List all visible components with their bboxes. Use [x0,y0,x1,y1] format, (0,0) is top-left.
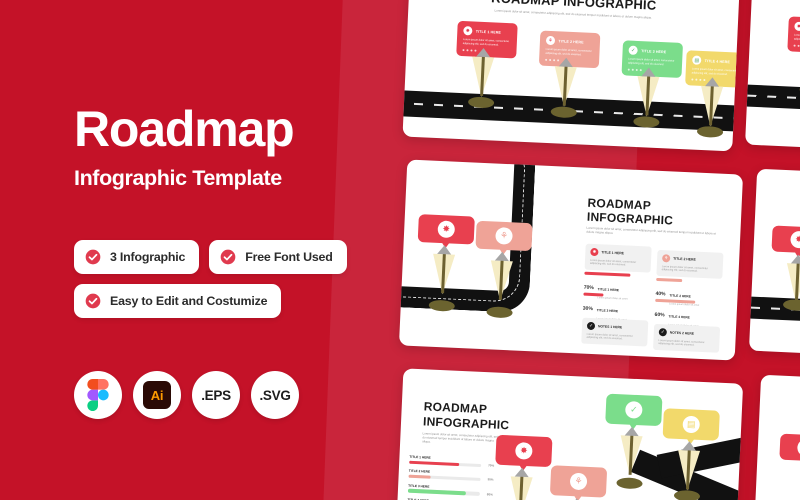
check-circle-icon [220,249,236,265]
feature-badge-label: Easy to Edit and Costumize [110,294,267,308]
street-lamp [674,441,703,498]
progress-row: TITLE 1 HERE 70% [409,455,481,467]
progress-row: TITLE 3 HERE 80% [408,484,480,496]
milestone-title: TITLE 4 HERE [705,59,730,64]
stat-percent: 60% [654,312,664,318]
stat-title: TITLE 1 HERE [598,287,619,292]
briefcase-icon: ▤ [692,55,701,64]
milestone-title: TITLE 1 HERE [476,29,501,34]
check-icon: ✓ [625,401,643,419]
note-title: NOTES 1 HERE [598,324,622,329]
preview-card-partial-2[interactable]: ✸ ⚘ [749,169,800,358]
preview-card-slide-3[interactable]: ROADMAP INFOGRAPHIC Lorem ipsum dolor si… [395,368,743,500]
eps-icon: .EPS [201,388,231,403]
street-lamp [551,57,580,114]
progress-value: 70% [488,463,494,467]
street-lamp [506,467,535,500]
gear-icon: ✸ [590,248,598,256]
tile-title: TITLE 1 HERE [601,250,624,255]
svg-icon: .SVG [259,388,290,403]
note-body: Lorem ipsum dolor sit amet, consectetur … [586,332,642,342]
promo-banner: ✸ TITLE 1 HERE Lorem ipsum dolor sit ame… [0,0,800,500]
slide-heading-line2: INFOGRAPHIC [587,210,674,228]
note-body: Lorem ipsum dolor sit amet, consectetur … [658,339,714,349]
milestone-card[interactable]: ⚘ [550,465,607,498]
progress-value: 30% [487,478,493,482]
bulb-icon: ⚘ [546,36,555,45]
preview-card-partial-1[interactable]: ✸ TITLE 1 HERE Lorem ipsum dolor sit ame… [745,0,800,151]
stat-bar [584,272,630,277]
slide-subtext: Lorem ipsum dolor sit amet, consectetur … [422,431,500,447]
milestone-title: TITLE 3 HERE [641,49,666,54]
street-lamp [697,77,726,134]
gear-icon: ✸ [515,442,533,460]
check-circle-icon [85,293,101,309]
street-lamp [633,67,662,124]
progress-list: TITLE 1 HERE 70% TITLE 2 HERE 30% [407,455,482,500]
format-pill-svg[interactable]: .SVG [251,371,299,419]
milestone-card[interactable]: ✸ [418,214,475,245]
street-lamp [429,245,458,308]
bulb-icon: ⚘ [495,227,513,245]
feature-badge-infographic[interactable]: 3 Infographic [74,240,199,274]
milestone-card[interactable]: ✸ TITLE 1 HERE Lorem ipsum dolor sit ame… [787,16,800,53]
file-format-list: Ai .EPS .SVG [74,371,299,419]
slide-subtext: Lorem ipsum dolor sit amet, consectetur … [586,226,716,240]
tile-body: Lorem ipsum dolor sit amet, consectetur … [590,258,646,268]
milestone-card[interactable]: ✓ [605,394,662,427]
bulb-icon: ⚘ [662,254,670,262]
info-tile[interactable]: ⚘ TITLE 2 HERE Lorem ipsum dolor sit ame… [656,250,723,279]
street-lamp [468,47,497,104]
milestone-body: Lorem ipsum dolor sit amet, consectetur … [794,34,800,44]
format-pill-eps[interactable]: .EPS [192,371,240,419]
briefcase-icon: ▤ [682,416,700,434]
progress-value: 80% [487,492,493,496]
milestone-card[interactable]: ✸ [779,434,800,462]
tile-title: TITLE 2 HERE [673,257,696,262]
check-icon: ✓ [628,46,637,55]
check-circle-icon [85,249,101,265]
preview-card-slide-2[interactable]: ✸ ⚘ ROADMAP INFOGRAPHIC Lorem ipsum dolo… [399,159,743,360]
page-subtitle: Infographic Template [74,166,374,191]
check-icon: ✓ [659,328,667,336]
check-icon: ✓ [587,322,595,330]
gear-icon: ✸ [790,231,800,249]
slide-heading-line2: INFOGRAPHIC [423,414,510,432]
feature-badge-label: 3 Infographic [110,250,185,264]
preview-card-partial-3[interactable]: ✸ [753,375,800,500]
stat-percent: 70% [584,285,594,291]
illustrator-label: Ai [151,388,163,403]
stat-title: TITLE 3 HERE [597,308,618,313]
gear-icon: ✸ [794,22,800,31]
stat-bar [656,278,682,282]
feature-badge-list: 3 Infographic Free Font Used Easy to Edi… [74,240,374,328]
info-tile[interactable]: ✸ TITLE 1 HERE Lorem ipsum dolor sit ame… [585,244,652,273]
milestone-card[interactable]: ✸ [495,435,552,468]
feature-badge-font[interactable]: Free Font Used [209,240,346,274]
note-block[interactable]: ✓ NOTES 1 HERE Lorem ipsum dolor sit ame… [581,318,648,347]
stat-bar [583,293,603,296]
stat-title: TITLE 4 HERE [668,315,689,320]
page-title: Roadmap [74,104,374,154]
feature-badge-label: Free Font Used [245,250,332,264]
tile-body: Lorem ipsum dolor sit amet, consectetur … [662,265,718,275]
gear-icon: ✸ [463,26,472,35]
preview-card-slide-1[interactable]: ROADMAP INFOGRAPHIC Lorem ipsum dolor si… [402,0,741,151]
street-lamp [616,426,645,485]
stat-percent: 40% [655,291,665,297]
note-title: NOTES 2 HERE [670,331,694,336]
illustrator-icon: Ai [143,381,171,409]
stat-percent: 30% [583,306,593,312]
progress-row: TITLE 2 HERE 30% [409,469,481,481]
milestone-card[interactable]: ⚘ [475,221,532,252]
street-lamp [783,254,800,307]
bulb-icon: ⚘ [570,473,588,491]
milestone-card[interactable]: ✸ [771,225,800,253]
figma-icon [87,379,109,411]
street-lamp [486,251,515,314]
format-pill-illustrator[interactable]: Ai [133,371,181,419]
stat-bar [655,299,695,303]
milestone-card[interactable]: ▤ [663,408,720,441]
gear-icon: ✸ [437,220,455,238]
milestone-title: TITLE 2 HERE [558,39,583,44]
note-block[interactable]: ✓ NOTES 2 HERE Lorem ipsum dolor sit ame… [653,324,720,353]
stat-title: TITLE 2 HERE [669,294,690,299]
milestone-dots [794,44,800,48]
format-pill-figma[interactable] [74,371,122,419]
feature-badge-edit[interactable]: Easy to Edit and Costumize [74,284,281,318]
hero-block: Roadmap Infographic Template [74,104,374,191]
